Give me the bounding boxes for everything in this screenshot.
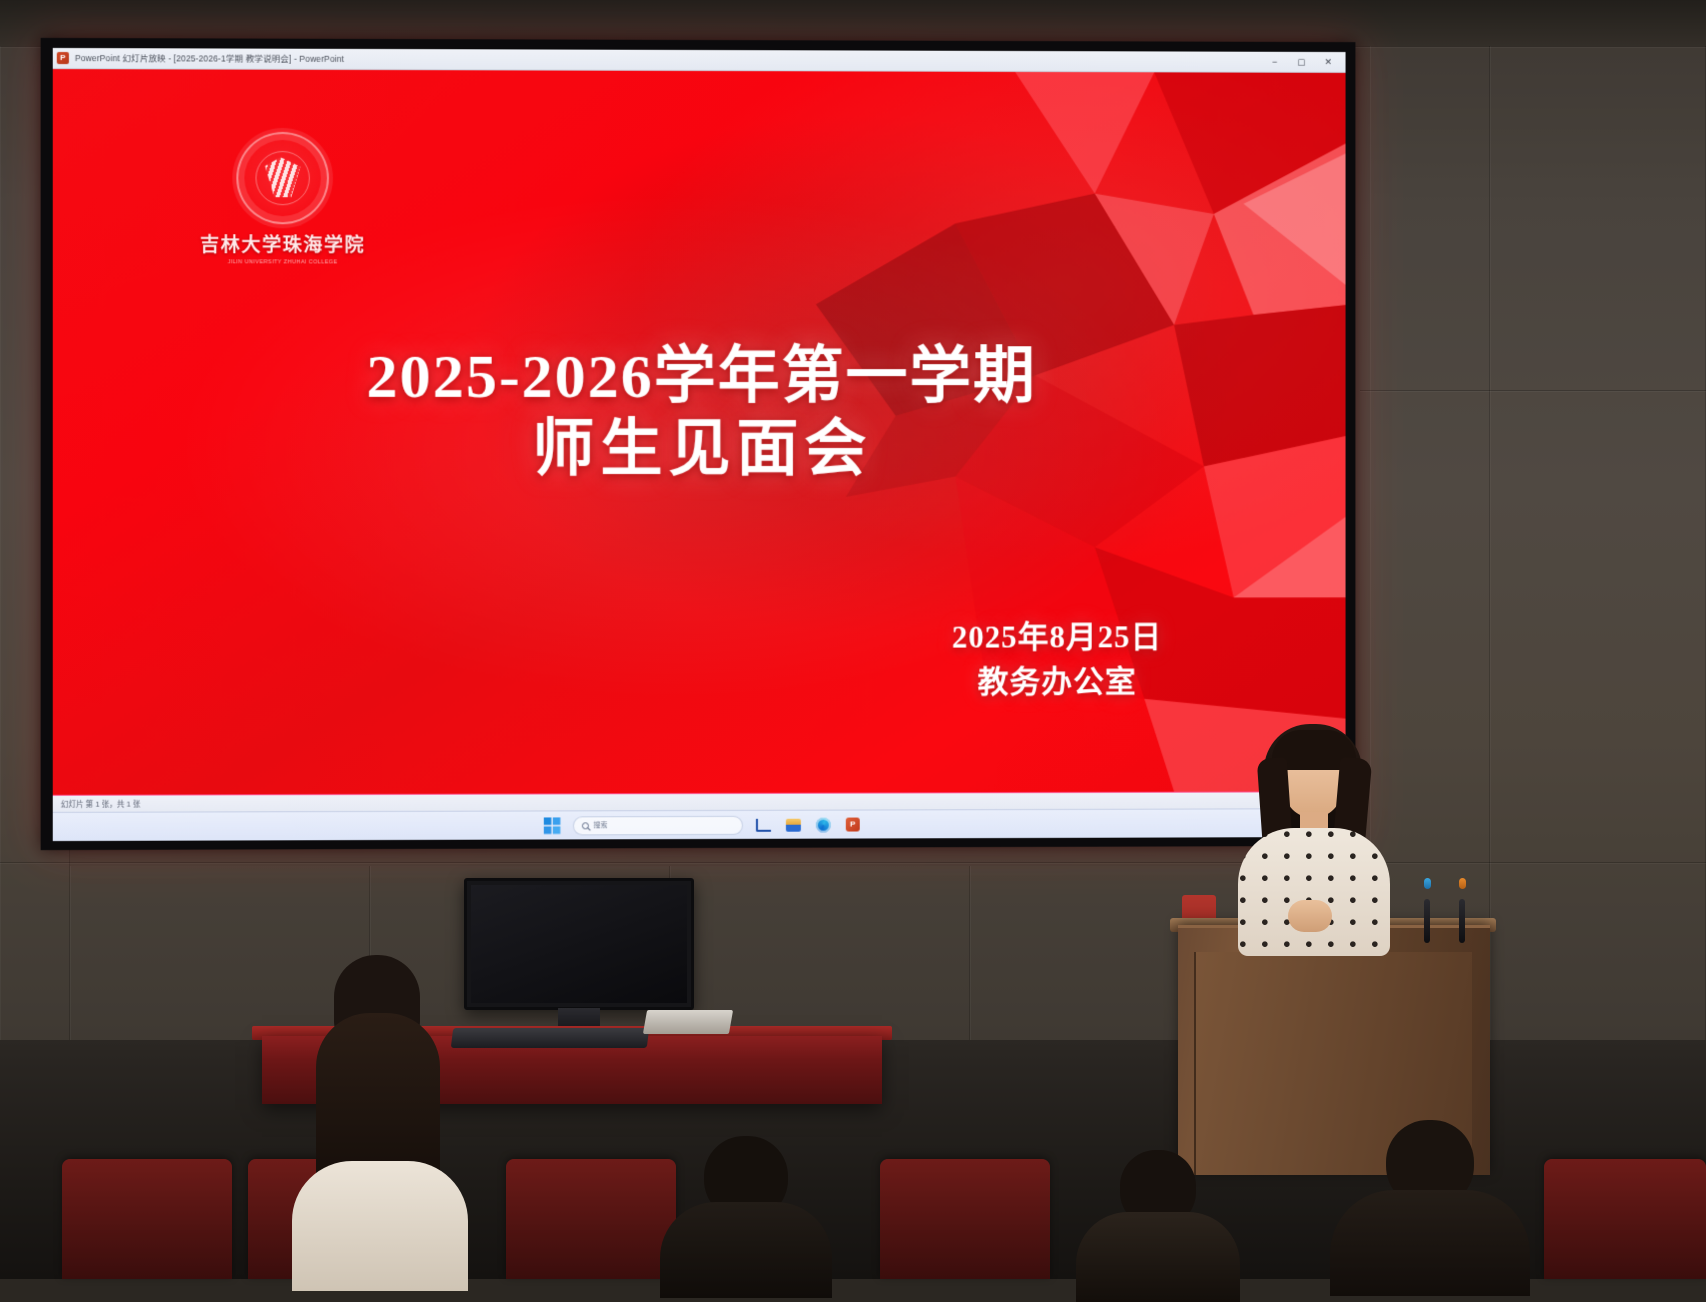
projection-screen-frame: P PowerPoint 幻灯片放映 - [2025-2026-1学期 教学说明… [41, 38, 1356, 850]
wall-seam [0, 862, 1706, 863]
close-button[interactable]: ✕ [1315, 51, 1342, 72]
taskbar-app-microsoft-store[interactable] [783, 815, 802, 834]
chair [1544, 1159, 1706, 1279]
university-logo-block: 吉林大学珠海学院 JILIN UNIVERSITY ZHUHAI COLLEGE [167, 132, 399, 266]
slide-count-label: 幻灯片 第 1 张，共 1 张 [61, 798, 141, 809]
laptop [643, 1010, 733, 1034]
slide-meta: 2025年8月25日 教务办公室 [952, 615, 1162, 705]
university-crest-icon [236, 132, 329, 225]
audience-member [1330, 1120, 1530, 1288]
monitor-screen [471, 885, 687, 1003]
slide-title-line1: 2025-2026学年第一学期 [53, 340, 1346, 413]
university-name-en: JILIN UNIVERSITY ZHUHAI COLLEGE [167, 259, 399, 265]
lecture-hall-room: P PowerPoint 幻灯片放映 - [2025-2026-1学期 教学说明… [0, 0, 1706, 1279]
file-explorer-icon [755, 818, 770, 831]
slide-title-line2: 师生见面会 [53, 413, 1346, 486]
university-name-cn: 吉林大学珠海学院 [167, 230, 399, 257]
audience-member [1076, 1150, 1240, 1286]
chair [506, 1159, 676, 1279]
wall-seam [1360, 390, 1706, 391]
slide-title: 2025-2026学年第一学期 师生见面会 [53, 340, 1346, 486]
microsoft-edge-icon [815, 817, 830, 832]
window-controls: − ▢ ✕ [1261, 51, 1341, 72]
maximize-button[interactable]: ▢ [1288, 51, 1315, 72]
audience-member [660, 1136, 832, 1286]
powerpoint-window: P PowerPoint 幻灯片放映 - [2025-2026-1学期 教学说明… [53, 48, 1346, 841]
desk-microphone-orange [1459, 878, 1466, 934]
wall-panel [1490, 46, 1706, 1046]
keyboard [451, 1028, 649, 1048]
presenter-monitor [464, 878, 694, 1010]
taskbar-search-input[interactable]: 搜索 [572, 815, 742, 835]
taskbar-center-group: 搜索 P [542, 815, 862, 835]
search-icon [581, 822, 588, 829]
projection-screen: P PowerPoint 幻灯片放映 - [2025-2026-1学期 教学说明… [53, 48, 1346, 841]
presenter-person [1226, 724, 1402, 954]
powerpoint-icon: P [57, 52, 69, 64]
presenter-hands [1288, 900, 1332, 932]
windows-taskbar: 搜索 P ^ 英 拼 [53, 808, 1346, 841]
minimize-button[interactable]: − [1261, 51, 1288, 72]
audience-member [276, 955, 476, 1285]
slide-canvas[interactable]: 吉林大学珠海学院 JILIN UNIVERSITY ZHUHAI COLLEGE… [53, 69, 1346, 795]
presenter-blouse [1238, 828, 1390, 956]
taskbar-app-microsoft-edge[interactable] [813, 815, 832, 834]
chair [880, 1159, 1050, 1279]
start-button[interactable] [542, 816, 561, 835]
slide-date: 2025年8月25日 [952, 615, 1162, 660]
chair [62, 1159, 232, 1279]
taskbar-app-file-explorer[interactable] [753, 815, 772, 834]
desk-microphone-blue [1424, 878, 1431, 934]
search-placeholder: 搜索 [593, 820, 607, 830]
taskbar-app-powerpoint[interactable]: P [843, 815, 862, 834]
powerpoint-taskbar-icon: P [846, 818, 860, 832]
microsoft-store-icon [785, 818, 800, 831]
window-title: PowerPoint 幻灯片放映 - [2025-2026-1学期 教学说明会]… [75, 52, 344, 65]
crest-emblem-icon [264, 157, 302, 197]
slide-department: 教务办公室 [952, 660, 1162, 705]
